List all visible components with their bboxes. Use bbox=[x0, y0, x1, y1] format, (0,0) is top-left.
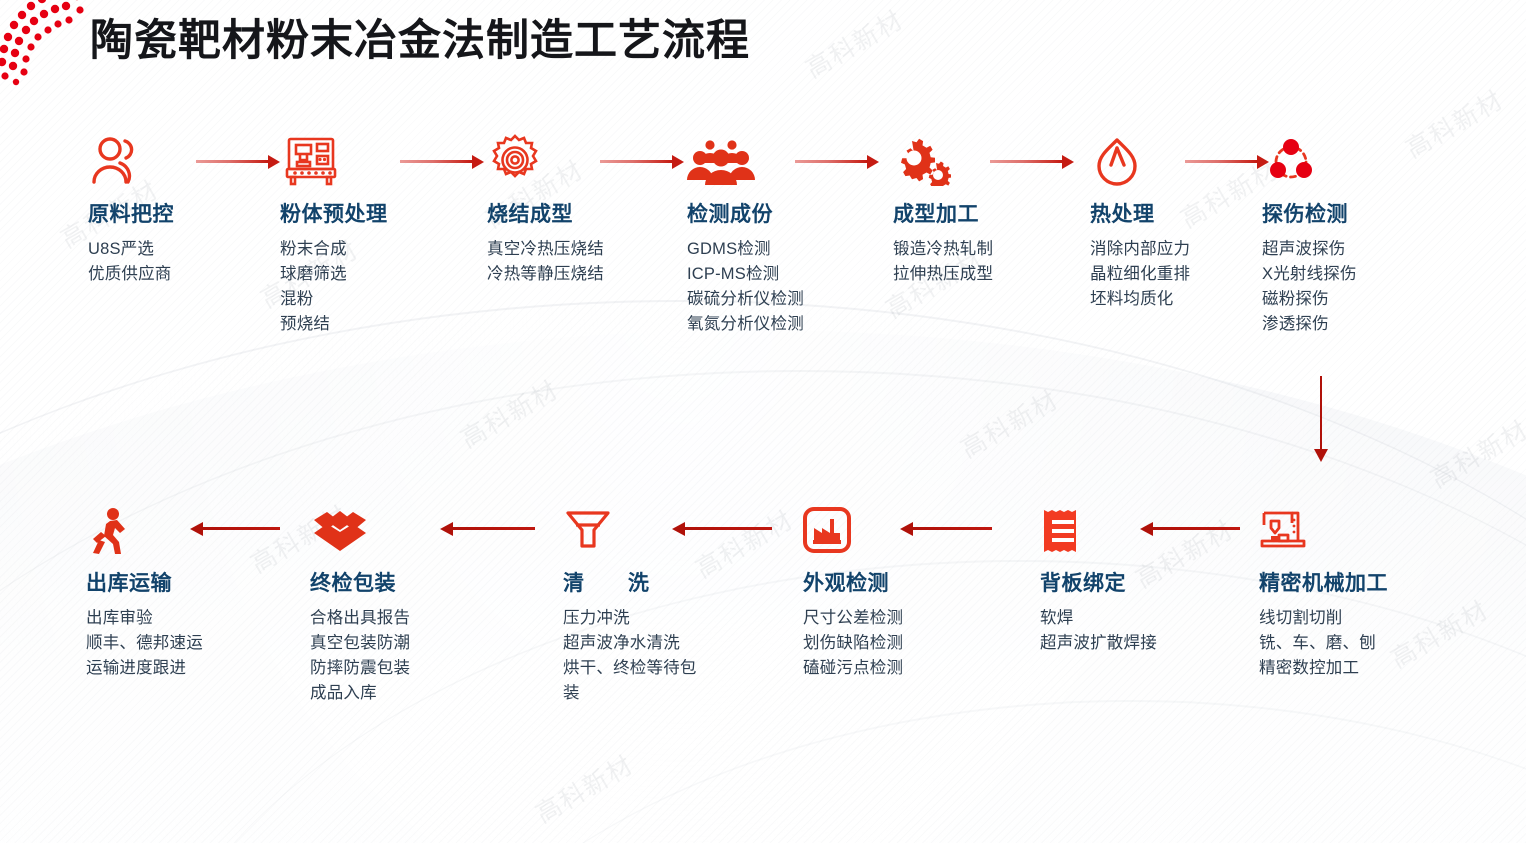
step-detail: 精密数控加工 bbox=[1259, 656, 1388, 681]
watermark-text: 高科新材 bbox=[798, 0, 910, 85]
step-detail-list: 真空冷热压烧结 冷热等静压烧结 bbox=[487, 237, 604, 287]
background-wave-4 bbox=[380, 700, 1526, 843]
arrow-right-2 bbox=[400, 155, 484, 169]
step-detail-list: 合格出具报告 真空包装防潮 防摔防震包装 成品入库 bbox=[310, 606, 410, 706]
step-detail: 真空冷热压烧结 bbox=[487, 237, 604, 262]
step-title: 出库运输 bbox=[86, 567, 203, 597]
factory-badge-icon bbox=[803, 497, 903, 555]
step-detail: 渗透探伤 bbox=[1262, 312, 1357, 337]
flame-icon bbox=[1090, 128, 1190, 186]
arrow-left-1 bbox=[190, 522, 280, 536]
arrow-right-5 bbox=[990, 155, 1074, 169]
step-title: 探伤检测 bbox=[1262, 198, 1357, 228]
step-title: 粉体预处理 bbox=[280, 198, 388, 228]
step-detail: 成品入库 bbox=[310, 681, 410, 706]
step-detail-list: U8S严选 优质供应商 bbox=[88, 237, 174, 287]
step-detail: 碳硫分析仪检测 bbox=[687, 287, 804, 312]
process-flow-infographic: 高科新材 高科新材 高科新材 高科新材 高科新材 高科新材 高科新材 高科新材 … bbox=[0, 0, 1526, 843]
step-detail: 粉末合成 bbox=[280, 237, 388, 262]
step-detail: 超声波净水清洗 bbox=[563, 631, 697, 656]
step-detail: 划伤缺陷检测 bbox=[803, 631, 903, 656]
step-detail-list: GDMS检测 ICP-MS检测 碳硫分析仪检测 氧氮分析仪检测 bbox=[687, 237, 804, 337]
step-detail: 拉伸热压成型 bbox=[893, 262, 993, 287]
watermark-text: 高科新材 bbox=[688, 500, 800, 585]
step-detail: 压力冲洗 bbox=[563, 606, 697, 631]
step-detail: 出库审验 bbox=[86, 606, 203, 631]
step-detail: U8S严选 bbox=[88, 237, 174, 262]
arrow-left-4 bbox=[900, 522, 992, 536]
step-detail: 磁粉探伤 bbox=[1262, 287, 1357, 312]
arrow-right-3 bbox=[600, 155, 684, 169]
step-detail: 球磨筛选 bbox=[280, 262, 388, 287]
arrow-left-2 bbox=[440, 522, 535, 536]
receipt-icon bbox=[1040, 497, 1157, 555]
step-detail: 消除内部应力 bbox=[1090, 237, 1190, 262]
step-detail-list: 超声波探伤 X光射线探伤 磁粉探伤 渗透探伤 bbox=[1262, 237, 1357, 337]
walking-person-icon bbox=[86, 497, 203, 555]
step-detail-list: 消除内部应力 晶粒细化重排 坯料均质化 bbox=[1090, 237, 1190, 312]
step-sintering-forming[interactable]: 烧结成型 真空冷热压烧结 冷热等静压烧结 bbox=[487, 128, 604, 287]
watermark-text: 高科新材 bbox=[1398, 80, 1510, 165]
step-detail: 顺丰、德邦速运 bbox=[86, 631, 203, 656]
step-detail-list: 尺寸公差检测 划伤缺陷检测 磕碰污点检测 bbox=[803, 606, 903, 681]
step-detail: 铣、车、磨、刨 bbox=[1259, 631, 1388, 656]
funnel-icon bbox=[563, 497, 697, 555]
step-title: 烧结成型 bbox=[487, 198, 604, 228]
two-gears-icon bbox=[893, 128, 993, 186]
step-detail: 防摔防震包装 bbox=[310, 656, 410, 681]
step-detail-list: 压力冲洗 超声波净水清洗 烘干、终检等待包 装 bbox=[563, 606, 697, 706]
gear-target-icon bbox=[487, 128, 604, 186]
step-detail: ICP-MS检测 bbox=[687, 262, 804, 287]
step-detail-list: 锻造冷热轧制 拉伸热压成型 bbox=[893, 237, 993, 287]
step-flaw-detection[interactable]: 探伤检测 超声波探伤 X光射线探伤 磁粉探伤 渗透探伤 bbox=[1262, 128, 1357, 337]
step-title: 检测成份 bbox=[687, 198, 804, 228]
step-detail-list: 粉末合成 球磨筛选 混粉 预烧结 bbox=[280, 237, 388, 337]
step-detail: 磕碰污点检测 bbox=[803, 656, 903, 681]
background-stripes bbox=[0, 0, 1526, 843]
step-detail: 软焊 bbox=[1040, 606, 1157, 631]
step-title: 成型加工 bbox=[893, 198, 993, 228]
step-detail: GDMS检测 bbox=[687, 237, 804, 262]
step-outbound-transport[interactable]: 出库运输 出库审验 顺丰、德邦速运 运输进度跟进 bbox=[86, 497, 203, 681]
step-title: 清 洗 bbox=[563, 567, 697, 597]
step-detail: 氧氮分析仪检测 bbox=[687, 312, 804, 337]
step-detail: 超声波扩散焊接 bbox=[1040, 631, 1157, 656]
open-box-icon bbox=[310, 497, 410, 555]
watermark-text: 高科新材 bbox=[453, 370, 565, 455]
step-detail: 晶粒细化重排 bbox=[1090, 262, 1190, 287]
step-detail: 超声波探伤 bbox=[1262, 237, 1357, 262]
page-title: 陶瓷靶材粉末冶金法制造工艺流程 bbox=[90, 6, 750, 68]
step-title: 背板绑定 bbox=[1040, 567, 1157, 597]
watermark-text: 高科新材 bbox=[953, 380, 1065, 465]
step-detail: 尺寸公差检测 bbox=[803, 606, 903, 631]
step-detail: 冷热等静压烧结 bbox=[487, 262, 604, 287]
step-forming-processing[interactable]: 成型加工 锻造冷热轧制 拉伸热压成型 bbox=[893, 128, 993, 287]
step-detail: 预烧结 bbox=[280, 312, 388, 337]
step-detail: 混粉 bbox=[280, 287, 388, 312]
step-detail: 运输进度跟进 bbox=[86, 656, 203, 681]
step-title: 精密机械加工 bbox=[1259, 567, 1388, 597]
people-group-icon bbox=[687, 128, 804, 186]
watermark-layer: 高科新材 高科新材 高科新材 高科新材 高科新材 高科新材 高科新材 高科新材 … bbox=[0, 0, 1526, 843]
press-machine-icon bbox=[280, 128, 388, 186]
step-composition-testing[interactable]: 检测成份 GDMS检测 ICP-MS检测 碳硫分析仪检测 氧氮分析仪检测 bbox=[687, 128, 804, 337]
step-heat-treatment[interactable]: 热处理 消除内部应力 晶粒细化重排 坯料均质化 bbox=[1090, 128, 1190, 312]
step-detail-list: 软焊 超声波扩散焊接 bbox=[1040, 606, 1157, 656]
step-title: 热处理 bbox=[1090, 198, 1190, 228]
three-dots-triangle-icon bbox=[1262, 128, 1357, 186]
step-detail: 坯料均质化 bbox=[1090, 287, 1190, 312]
step-detail: 合格出具报告 bbox=[310, 606, 410, 631]
cnc-machine-icon bbox=[1259, 497, 1388, 555]
step-raw-material-control[interactable]: 原料把控 U8S严选 优质供应商 bbox=[88, 128, 174, 287]
step-detail: 锻造冷热轧制 bbox=[893, 237, 993, 262]
step-detail: 优质供应商 bbox=[88, 262, 174, 287]
step-detail: X光射线探伤 bbox=[1262, 262, 1357, 287]
arrow-right-1 bbox=[196, 155, 280, 169]
step-precision-machining[interactable]: 精密机械加工 线切割切削 铣、车、磨、刨 精密数控加工 bbox=[1259, 497, 1388, 681]
step-detail: 线切割切削 bbox=[1259, 606, 1388, 631]
arrow-right-4 bbox=[795, 155, 879, 169]
step-powder-pretreatment[interactable]: 粉体预处理 粉末合成 球磨筛选 混粉 预烧结 bbox=[280, 128, 388, 337]
step-title: 原料把控 bbox=[88, 198, 174, 228]
step-appearance-inspection[interactable]: 外观检测 尺寸公差检测 划伤缺陷检测 磕碰污点检测 bbox=[803, 497, 903, 681]
step-detail-list: 出库审验 顺丰、德邦速运 运输进度跟进 bbox=[86, 606, 203, 681]
step-cleaning[interactable]: 清 洗 压力冲洗 超声波净水清洗 烘干、终检等待包 装 bbox=[563, 497, 697, 706]
step-detail: 真空包装防潮 bbox=[310, 631, 410, 656]
step-title: 终检包装 bbox=[310, 567, 410, 597]
two-people-icon bbox=[88, 128, 174, 186]
step-detail-list: 线切割切削 铣、车、磨、刨 精密数控加工 bbox=[1259, 606, 1388, 681]
arrow-right-6 bbox=[1185, 155, 1269, 169]
step-final-inspection-packaging[interactable]: 终检包装 合格出具报告 真空包装防潮 防摔防震包装 成品入库 bbox=[310, 497, 410, 706]
step-title: 外观检测 bbox=[803, 567, 903, 597]
watermark-text: 高科新材 bbox=[528, 745, 640, 830]
step-detail: 烘干、终检等待包 装 bbox=[563, 656, 697, 706]
step-backplate-bonding[interactable]: 背板绑定 软焊 超声波扩散焊接 bbox=[1040, 497, 1157, 656]
watermark-text: 高科新材 bbox=[1383, 590, 1495, 675]
watermark-text: 高科新材 bbox=[1423, 410, 1526, 495]
